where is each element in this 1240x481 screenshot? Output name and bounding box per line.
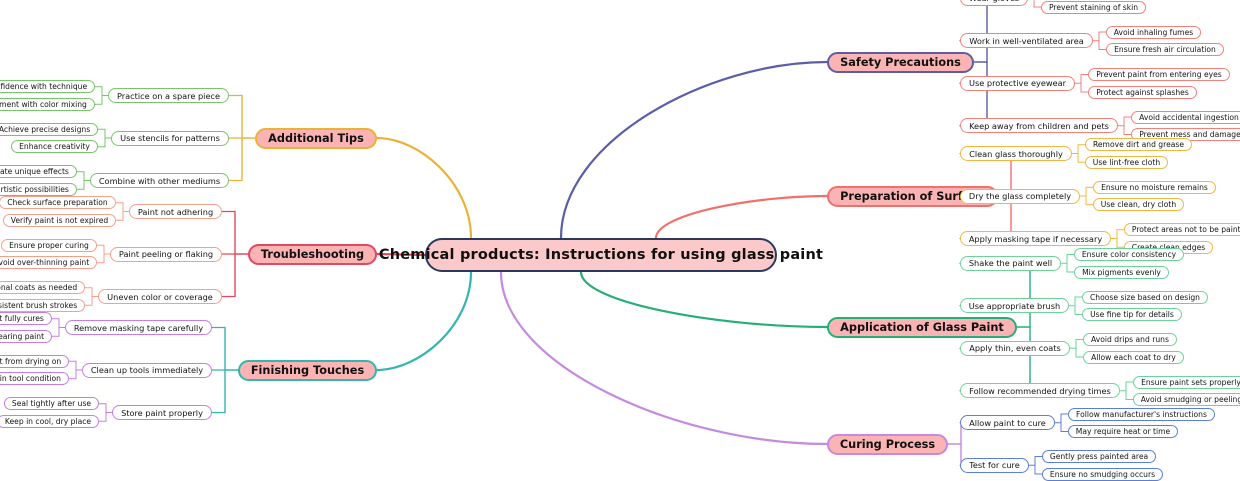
leaf-node[interactable]: Ensure proper curing: [1, 239, 97, 252]
leaf-node[interactable]: Avoid tearing paint: [0, 330, 52, 343]
subtopic-node[interactable]: Apply masking tape if necessary: [960, 231, 1111, 246]
subtopic-node[interactable]: Dry the glass completely: [960, 189, 1080, 204]
branch-node-left-1[interactable]: Troubleshooting: [248, 244, 377, 265]
leaf-node[interactable]: Protect against splashes: [1088, 86, 1197, 99]
leaf-node[interactable]: Ensure no smudging occurs: [1042, 468, 1163, 481]
leaf-node[interactable]: Ensure paint sets properly: [1133, 376, 1240, 389]
leaf-node[interactable]: Avoid drips and runs: [1083, 333, 1177, 346]
leaf-node[interactable]: Expand artistic possibilities: [0, 183, 77, 196]
leaf-node[interactable]: Check surface preparation: [0, 196, 116, 209]
leaf-node[interactable]: Apply additional coats as needed: [0, 281, 85, 294]
leaf-node[interactable]: Follow manufacturer's instructions: [1068, 408, 1215, 421]
subtopic-node[interactable]: Keep away from children and pets: [960, 118, 1118, 133]
subtopic-node[interactable]: Remove masking tape carefully: [65, 320, 212, 335]
subtopic-node[interactable]: Paint not adhering: [129, 204, 222, 219]
root-node[interactable]: Chemical products: Instructions for usin…: [425, 238, 777, 272]
subtopic-node[interactable]: Work in well-ventilated area: [960, 33, 1093, 48]
leaf-node[interactable]: Experiment with color mixing: [0, 98, 95, 111]
leaf-node[interactable]: Maintain tool condition: [0, 372, 69, 385]
leaf-node[interactable]: Remove dirt and grease: [1085, 138, 1192, 151]
subtopic-node[interactable]: Clean up tools immediately: [82, 363, 212, 378]
subtopic-node[interactable]: Apply thin, even coats: [960, 341, 1070, 356]
leaf-node[interactable]: Choose size based on design: [1082, 291, 1208, 304]
leaf-node[interactable]: Avoid inhaling fumes: [1106, 26, 1201, 39]
subtopic-node[interactable]: Practice on a spare piece: [108, 88, 229, 103]
leaf-node[interactable]: Mix pigments evenly: [1074, 266, 1169, 279]
leaf-node[interactable]: Avoid over-thinning paint: [0, 256, 97, 269]
leaf-node[interactable]: May require heat or time: [1068, 425, 1178, 438]
subtopic-node[interactable]: Paint peeling or flaking: [110, 247, 222, 262]
leaf-node[interactable]: Use consistent brush strokes: [0, 299, 85, 312]
leaf-node[interactable]: Use lint-free cloth: [1085, 156, 1168, 169]
subtopic-node[interactable]: Shake the paint well: [960, 256, 1061, 271]
leaf-node[interactable]: Avoid accidental ingestion: [1131, 111, 1240, 124]
leaf-node[interactable]: Achieve precise designs: [0, 123, 98, 136]
branch-node-2[interactable]: Application of Glass Paint: [827, 317, 1017, 338]
leaf-node[interactable]: Keep in cool, dry place: [0, 415, 99, 428]
leaf-node[interactable]: Avoid smudging or peeling: [1133, 393, 1240, 406]
leaf-node[interactable]: Use clean, dry cloth: [1093, 198, 1184, 211]
subtopic-node[interactable]: Uneven color or coverage: [98, 289, 222, 304]
subtopic-node[interactable]: Store paint properly: [112, 405, 212, 420]
leaf-node[interactable]: Protect areas not to be painted: [1124, 223, 1240, 236]
leaf-node[interactable]: Verify paint is not expired: [3, 214, 116, 227]
mindmap-canvas: Chemical products: Instructions for usin…: [0, 0, 1240, 476]
leaf-node[interactable]: Create unique effects: [0, 165, 77, 178]
leaf-node[interactable]: Enhance creativity: [11, 140, 98, 153]
subtopic-node[interactable]: Use stencils for patterns: [111, 131, 229, 146]
leaf-node[interactable]: Ensure fresh air circulation: [1106, 43, 1224, 56]
leaf-node[interactable]: Gently press painted area: [1042, 450, 1156, 463]
branch-node-left-0[interactable]: Additional Tips: [255, 128, 377, 149]
branch-node-0[interactable]: Safety Precautions: [827, 52, 974, 73]
leaf-node[interactable]: Ensure color consistency: [1074, 248, 1184, 261]
branch-node-left-2[interactable]: Finishing Touches: [238, 360, 377, 381]
subtopic-node[interactable]: Follow recommended drying times: [960, 383, 1120, 398]
subtopic-node[interactable]: Wear gloves: [960, 0, 1028, 6]
leaf-node[interactable]: Gain confidence with technique: [0, 80, 95, 93]
subtopic-node[interactable]: Clean glass thoroughly: [960, 146, 1072, 161]
branch-node-3[interactable]: Curing Process: [827, 434, 948, 455]
subtopic-node[interactable]: Combine with other mediums: [90, 173, 229, 188]
leaf-node[interactable]: Do so before paint fully cures: [0, 312, 52, 325]
subtopic-node[interactable]: Test for cure: [960, 458, 1029, 473]
leaf-node[interactable]: Seal tightly after use: [4, 397, 99, 410]
leaf-node[interactable]: Prevent paint from entering eyes: [1088, 68, 1230, 81]
leaf-node[interactable]: Prevent staining of skin: [1041, 1, 1146, 14]
leaf-node[interactable]: Ensure no moisture remains: [1093, 181, 1216, 194]
subtopic-node[interactable]: Use protective eyewear: [960, 76, 1075, 91]
leaf-node[interactable]: Use fine tip for details: [1082, 308, 1182, 321]
leaf-node[interactable]: Prevent paint from drying on: [0, 355, 69, 368]
leaf-node[interactable]: Allow each coat to dry: [1083, 351, 1184, 364]
subtopic-node[interactable]: Use appropriate brush: [960, 298, 1069, 313]
subtopic-node[interactable]: Allow paint to cure: [960, 415, 1055, 430]
